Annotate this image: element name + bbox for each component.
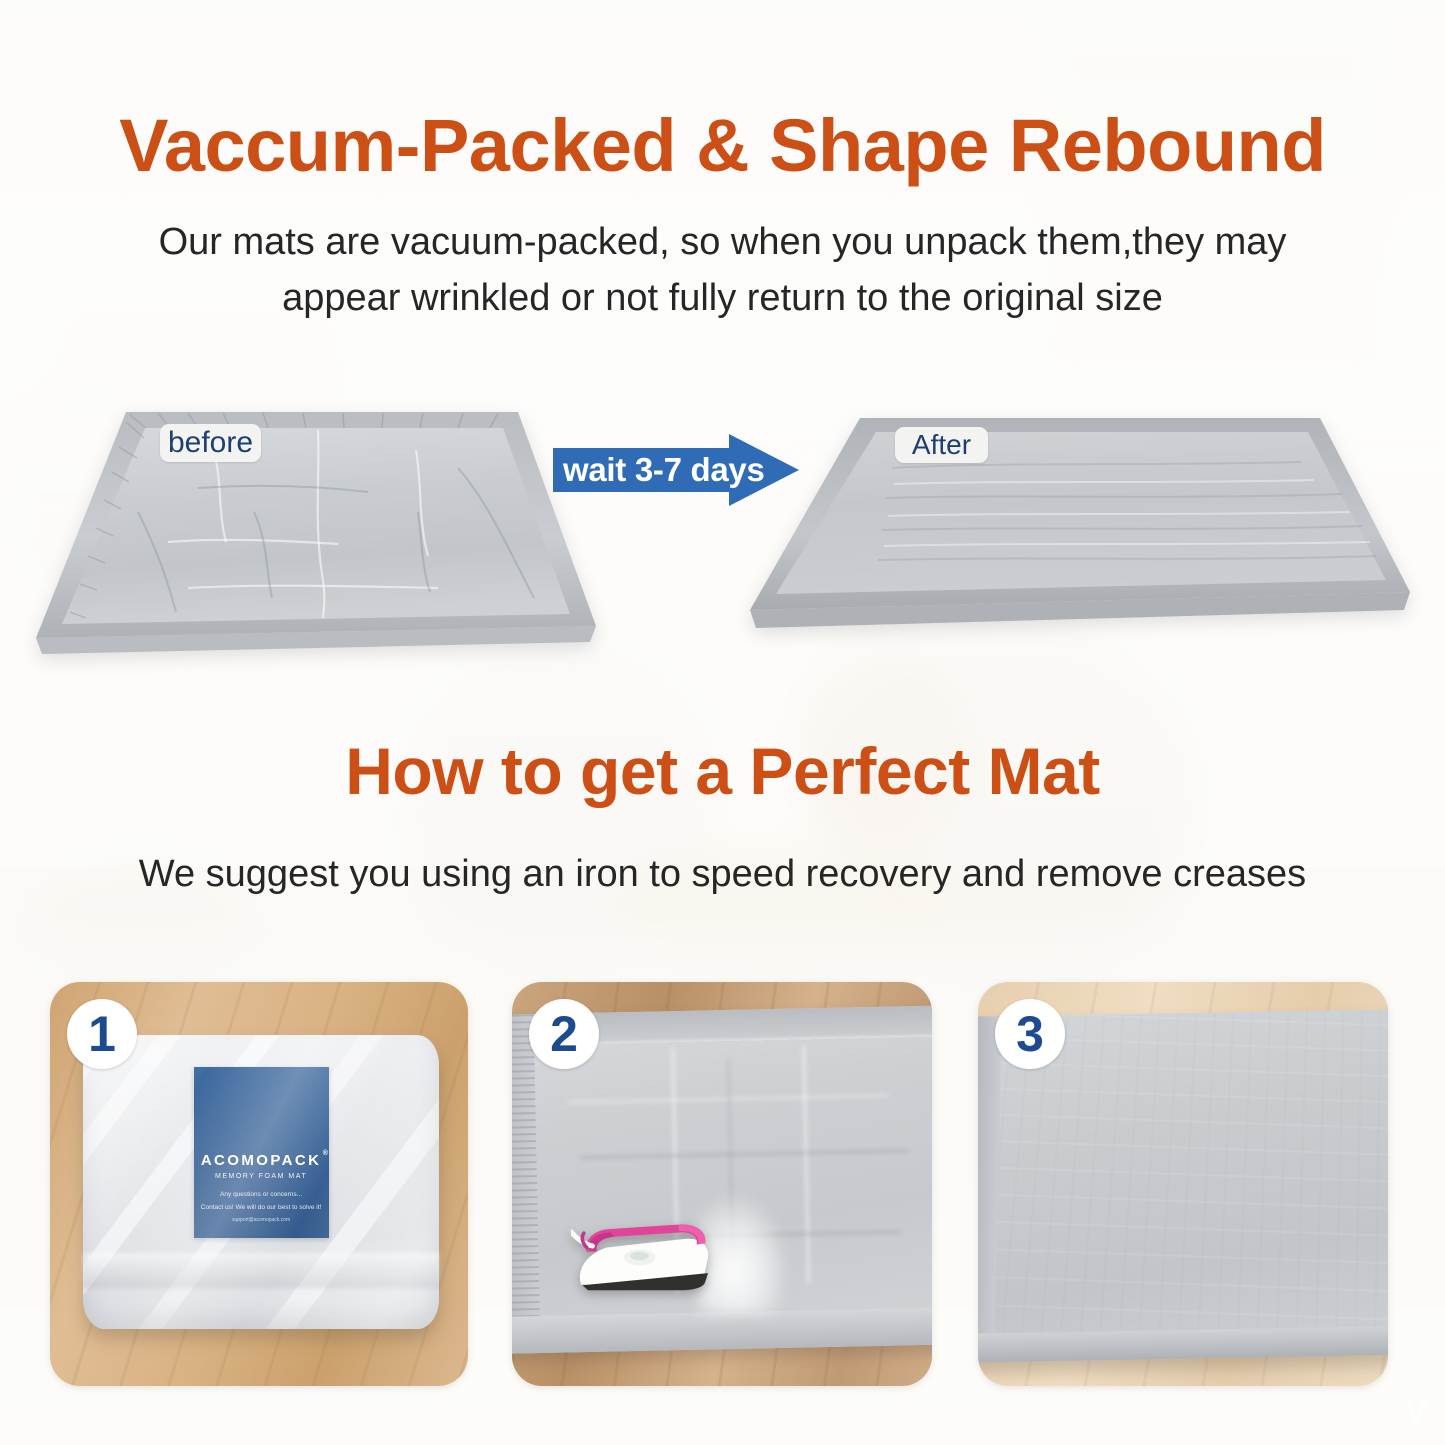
watermark: V <box>1405 1392 1429 1431</box>
before-mat-illustration <box>18 392 638 654</box>
registered-trademark-icon: ® <box>323 1150 331 1157</box>
package-brand-name: ACOMOPACK® <box>201 1152 321 1169</box>
clothes-iron <box>571 1208 714 1297</box>
section-two-subtitle: We suggest you using an iron to speed re… <box>0 848 1445 900</box>
after-mat-illustration <box>742 396 1422 636</box>
after-label-pill: After <box>895 427 988 463</box>
package-product-name: MEMORY FOAM MAT <box>215 1173 307 1180</box>
package-fold <box>83 1253 438 1288</box>
step-panel-3: 3 <box>978 982 1388 1386</box>
section-two-title: How to get a Perfect Mat <box>0 733 1445 809</box>
vacuum-sealed-package: ACOMOPACK® MEMORY FOAM MAT Any questions… <box>83 1035 438 1330</box>
iron-icon <box>571 1208 714 1297</box>
section-one-title: Vaccum-Packed & Shape Rebound <box>0 103 1445 188</box>
section-one-subtitle-line-1: Our mats are vacuum-packed, so when you … <box>90 214 1355 270</box>
step-badge-1: 1 <box>67 999 137 1069</box>
before-label-pill: before <box>160 424 261 462</box>
before-mat-photo <box>18 392 638 654</box>
mat-left-border <box>512 1014 541 1354</box>
step-panel-2: 2 <box>512 982 932 1386</box>
package-contact-line: Contact us! We will do our best to solve… <box>194 1202 329 1214</box>
infographic-content: Vaccum-Packed & Shape Rebound Our mats a… <box>0 0 1445 1445</box>
step-badge-3: 3 <box>995 999 1065 1069</box>
package-question-line: Any questions or concerns... <box>194 1189 329 1201</box>
mat-crease <box>803 1046 811 1284</box>
package-brand-text: ACOMOPACK <box>201 1152 321 1169</box>
section-one-subtitle: Our mats are vacuum-packed, so when you … <box>0 214 1445 326</box>
step-panel-1: ACOMOPACK® MEMORY FOAM MAT Any questions… <box>50 982 468 1386</box>
package-email: support@acomopack.com <box>194 1217 329 1223</box>
after-mat-photo <box>742 396 1422 636</box>
package-contact-block: Any questions or concerns... Contact us!… <box>194 1189 329 1223</box>
mat-crease-shadow <box>579 1149 908 1159</box>
step-badge-2: 2 <box>529 999 599 1069</box>
section-one-subtitle-line-2: appear wrinkled or not fully return to t… <box>90 270 1355 326</box>
package-brand-label: ACOMOPACK® MEMORY FOAM MAT Any questions… <box>194 1067 329 1238</box>
